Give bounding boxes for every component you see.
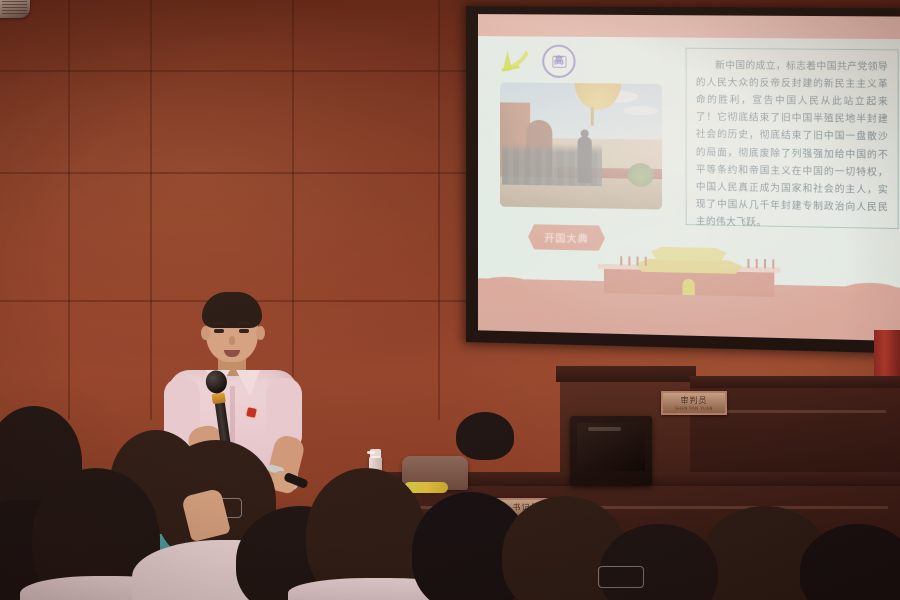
sanitizer-pump bbox=[370, 449, 381, 458]
wall-seam bbox=[438, 0, 440, 420]
presenter-eyebrow bbox=[212, 322, 226, 325]
nameplate-judge-pinyin: SHEN PAN YUAN bbox=[666, 406, 722, 411]
photo-projection-wash bbox=[500, 82, 662, 209]
founding-ceremony-photo bbox=[500, 82, 662, 209]
school-seal-char: 高 bbox=[552, 55, 566, 67]
nameplate-judge-text: 审判员 bbox=[666, 395, 722, 406]
gate-upper-roof bbox=[651, 247, 727, 262]
ceiling-vent-icon bbox=[0, 0, 30, 18]
gate-lower-roof bbox=[636, 259, 743, 274]
party-member-badge-icon bbox=[246, 407, 257, 418]
crt-monitor bbox=[570, 416, 652, 486]
eyeglasses-icon bbox=[598, 566, 644, 588]
nameplate-judge: 审判员 SHEN PAN YUAN bbox=[661, 391, 727, 415]
slide-body-text: 新中国的成立，标志着中国共产党领导的人民大众的反帝反封建的新民主主义革命的胜利，… bbox=[686, 48, 899, 229]
projection-screen-surface: 高 开国大典 新中国的成立，标志着 bbox=[478, 14, 900, 341]
audience-head bbox=[456, 412, 514, 460]
wall-seam bbox=[68, 0, 70, 420]
presenter-eyebrow bbox=[238, 322, 252, 325]
bench-top-rail bbox=[690, 376, 900, 388]
presenter-hair bbox=[202, 292, 262, 328]
projection-screen-frame: 高 开国大典 新中国的成立，标志着 bbox=[466, 6, 900, 354]
presenter-ear bbox=[256, 326, 265, 340]
slide-emblem-row: 高 bbox=[500, 44, 576, 78]
microphone-head bbox=[204, 369, 228, 395]
presenter-ear bbox=[201, 326, 210, 340]
gate-flagpoles-right bbox=[748, 259, 775, 269]
bench-top-rail bbox=[556, 366, 696, 382]
bench-moulding bbox=[700, 410, 886, 413]
school-seal-icon: 高 bbox=[542, 45, 575, 78]
presenter-eye bbox=[239, 329, 249, 333]
photo-caption-ribbon: 开国大典 bbox=[528, 224, 605, 251]
gate-archway bbox=[683, 279, 695, 295]
gate-flagpoles-left bbox=[621, 256, 648, 266]
hammer-and-sickle-emblem-icon bbox=[500, 47, 530, 74]
gate-wall bbox=[604, 269, 774, 297]
microphone-body bbox=[214, 403, 229, 444]
presenter-eye bbox=[214, 329, 224, 333]
lecture-hall-photo: 高 开国大典 新中国的成立，标志着 bbox=[0, 0, 900, 600]
presenter-nose bbox=[229, 336, 235, 345]
slide-top-band bbox=[478, 14, 900, 39]
